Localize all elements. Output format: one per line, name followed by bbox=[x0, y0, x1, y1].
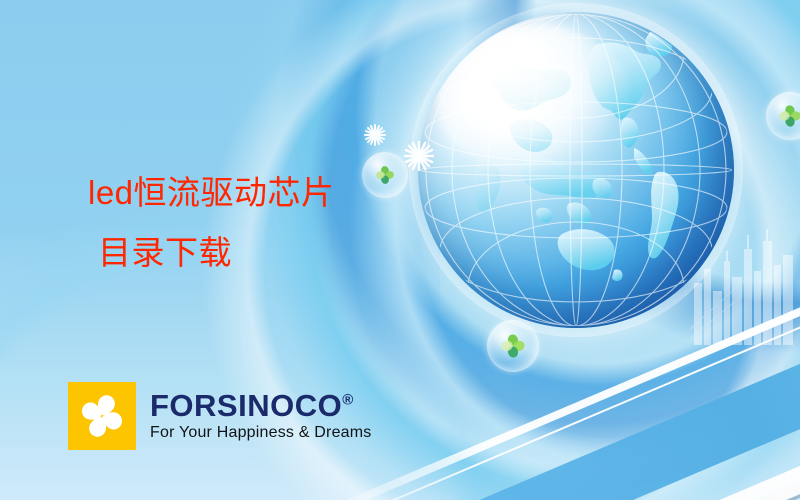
sparkle-star-small bbox=[364, 124, 386, 151]
pinwheel-icon bbox=[375, 165, 395, 185]
brand-tagline: For Your Happiness & Dreams bbox=[150, 424, 372, 442]
headline-line-1: led恒流驱动芯片 bbox=[88, 174, 335, 211]
pinwheel-logo-icon bbox=[74, 388, 130, 444]
forsinoco-pinwheel-mark bbox=[68, 382, 136, 450]
bubble-pinwheel-medium bbox=[487, 320, 539, 372]
brand-name: FORSINOCO® bbox=[150, 390, 372, 421]
logo-text-block: FORSINOCO® For Your Happiness & Dreams bbox=[150, 390, 372, 442]
pinwheel-icon bbox=[778, 104, 800, 128]
registered-trademark-icon: ® bbox=[342, 392, 354, 409]
headline: led恒流驱动芯片 目录下载 bbox=[88, 163, 335, 283]
pinwheel-icon bbox=[500, 333, 526, 359]
bubble-pinwheel-small bbox=[362, 152, 408, 198]
globe-rim-glow bbox=[409, 3, 743, 337]
brand-word: FORSINOCO bbox=[150, 388, 342, 423]
earth-globe bbox=[418, 12, 734, 328]
banner-canvas: led恒流驱动芯片 目录下载 FORSINOCO® For Your Happi… bbox=[0, 0, 800, 500]
brand-logo[interactable]: FORSINOCO® For Your Happiness & Dreams bbox=[68, 382, 372, 450]
sparkle-star-large bbox=[404, 141, 434, 176]
headline-line-2: 目录下载 bbox=[88, 223, 335, 283]
